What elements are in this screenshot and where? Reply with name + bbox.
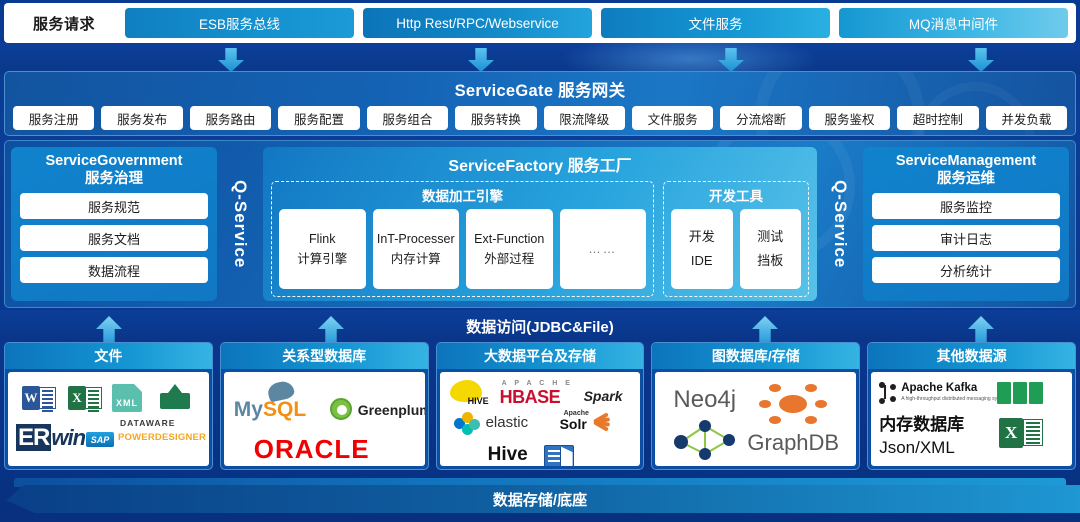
source-card-file-title: 文件 xyxy=(5,343,212,369)
powerdesigner-logo: POWERDESIGNER xyxy=(118,432,206,443)
graphdb-nodes-icon xyxy=(753,382,833,426)
gate-item-service-publish[interactable]: 服务发布 xyxy=(101,106,182,130)
dev-tools-box-row: 开发 IDE 测试 挡板 xyxy=(671,209,801,289)
engine-box-more[interactable]: …… xyxy=(560,209,647,289)
bottom-ribbon: 数据存储/底座 xyxy=(0,475,1080,522)
green-upload-icon xyxy=(160,393,190,409)
dataware-logo: DATAWARE xyxy=(120,418,175,428)
data-access-title: 数据访问(JDBC&File) xyxy=(0,316,1080,337)
source-card-graph-body: Neo4j xyxy=(655,372,856,466)
neo4j-graph-icon xyxy=(671,420,743,460)
apache-small-label: A P A C H E xyxy=(502,380,573,387)
service-request-mq-button[interactable]: MQ消息中间件 xyxy=(839,8,1068,38)
source-card-file-body: W X XML ERwin SAP POWERDESIGNER xyxy=(8,372,209,466)
data-source-cards: 文件 W X XML ERwin SAP xyxy=(4,342,1076,470)
graphdb-logo: GraphDB xyxy=(747,430,839,456)
kafka-logo: Apache Kafka xyxy=(901,382,977,394)
servicegate-title: ServiceGate 服务网关 xyxy=(5,72,1075,101)
hive-disk-icon xyxy=(544,445,574,466)
management-item-service-monitor[interactable]: 服务监控 xyxy=(872,193,1060,219)
gate-item-service-transform[interactable]: 服务转换 xyxy=(455,106,536,130)
ribbon-title: 数据存储/底座 xyxy=(493,489,587,510)
servicefactory-panel: ServiceFactory 服务工厂 数据加工引擎 Flink 计算引擎 In… xyxy=(263,147,817,301)
elastic-logo: elastic xyxy=(486,414,529,431)
kafka-icon xyxy=(879,382,899,404)
q-service-text: Q-Service xyxy=(230,180,250,268)
green-grid-icon xyxy=(997,382,1043,404)
excel-icon: X xyxy=(68,386,102,410)
tool-box-develop-line2: IDE xyxy=(691,249,713,273)
service-request-row: 服务请求 ESB服务总线 Http Rest/RPC/Webservice 文件… xyxy=(4,3,1076,43)
gate-item-rate-limit[interactable]: 限流降级 xyxy=(544,106,625,130)
q-service-text: Q-Service xyxy=(830,180,850,268)
json-xml-label: Json/XML xyxy=(879,438,955,458)
solr-burst-icon xyxy=(594,410,624,434)
gate-item-concurrency-load[interactable]: 并发负载 xyxy=(986,106,1067,130)
tool-box-develop-line1: 开发 xyxy=(689,225,715,249)
service-management-panel: ServiceManagement 服务运维 服务监控 审计日志 分析统计 xyxy=(863,147,1069,301)
erwin-logo: ERwin xyxy=(16,424,85,452)
gate-item-file-service[interactable]: 文件服务 xyxy=(632,106,713,130)
engine-box-ext-line1: Ext-Function xyxy=(474,229,544,249)
engine-box-row: Flink 计算引擎 InT-Processer 内存计算 Ext-Functi… xyxy=(279,209,646,289)
source-card-other-body: Apache Kafka A high-throughput distribut… xyxy=(871,372,1072,466)
service-request-esb-button[interactable]: ESB服务总线 xyxy=(125,8,354,38)
hive-logo: Hive xyxy=(488,444,528,466)
tool-box-test[interactable]: 测试 挡板 xyxy=(740,209,802,289)
source-card-graph-title: 图数据库/存储 xyxy=(652,343,859,369)
source-card-bigdata-body: HIVE A P A C H E HBASE Spark elastic Apa… xyxy=(440,372,641,466)
tool-box-test-line1: 测试 xyxy=(757,225,783,249)
government-item-service-spec[interactable]: 服务规范 xyxy=(20,193,208,219)
downward-flow-band xyxy=(0,43,1080,74)
hbase-logo: HBASE xyxy=(500,387,561,408)
neo4j-logo: Neo4j xyxy=(673,386,736,414)
word-icon: W xyxy=(22,386,56,410)
hive-badge-label: HIVE xyxy=(468,396,489,406)
government-item-data-flow[interactable]: 数据流程 xyxy=(20,257,208,283)
source-card-relational-title: 关系型数据库 xyxy=(221,343,428,369)
gate-item-service-auth[interactable]: 服务鉴权 xyxy=(809,106,890,130)
source-card-file[interactable]: 文件 W X XML ERwin SAP xyxy=(4,342,213,470)
architecture-diagram: 服务请求 ESB服务总线 Http Rest/RPC/Webservice 文件… xyxy=(0,0,1080,522)
gate-item-service-register[interactable]: 服务注册 xyxy=(13,106,94,130)
gate-item-service-route[interactable]: 服务路由 xyxy=(190,106,271,130)
management-item-audit-log[interactable]: 审计日志 xyxy=(872,225,1060,251)
service-government-title-en: ServiceGovernment xyxy=(20,153,208,170)
mysql-logo: MySQL xyxy=(234,398,306,422)
gate-item-circuit-breaker[interactable]: 分流熔断 xyxy=(720,106,801,130)
greenplum-logo: Greenplum xyxy=(358,402,425,418)
service-management-title-cn: 服务运维 xyxy=(872,170,1060,188)
source-card-other[interactable]: 其他数据源 Apache Kafka A high-throughput dis… xyxy=(867,342,1076,470)
service-government-title-cn: 服务治理 xyxy=(20,170,208,188)
gate-item-timeout-control[interactable]: 超时控制 xyxy=(897,106,978,130)
engine-box-flink[interactable]: Flink 计算引擎 xyxy=(279,209,366,289)
engine-box-flink-line2: 计算引擎 xyxy=(297,249,347,269)
service-request-label: 服务请求 xyxy=(12,13,116,34)
servicefactory-title: ServiceFactory 服务工厂 xyxy=(271,152,809,176)
dev-tools-title: 开发工具 xyxy=(671,185,801,205)
engine-box-flink-line1: Flink xyxy=(309,229,335,249)
service-request-http-button[interactable]: Http Rest/RPC/Webservice xyxy=(363,8,592,38)
engine-box-ext-function[interactable]: Ext-Function 外部过程 xyxy=(466,209,553,289)
government-item-service-doc[interactable]: 服务文档 xyxy=(20,225,208,251)
source-card-relational-body: MySQL Greenplum ORACLE xyxy=(224,372,425,466)
arrow-down-icon xyxy=(468,48,494,72)
data-access-bar: 数据访问(JDBC&File) xyxy=(0,310,1080,342)
xml-file-icon: XML xyxy=(112,384,142,412)
servicefactory-body: 数据加工引擎 Flink 计算引擎 InT-Processer 内存计算 Ext… xyxy=(271,181,809,297)
greenplum-icon xyxy=(330,398,352,420)
excel-grid xyxy=(85,387,102,409)
source-card-relational-db[interactable]: 关系型数据库 MySQL Greenplum ORACLE xyxy=(220,342,429,470)
middle-section: ServiceGovernment 服务治理 服务规范 服务文档 数据流程 Q-… xyxy=(4,140,1076,308)
excel-icon: X xyxy=(999,418,1043,448)
band-glow xyxy=(560,43,820,74)
source-card-bigdata-title: 大数据平台及存储 xyxy=(437,343,644,369)
arrow-down-icon xyxy=(218,48,244,72)
word-page xyxy=(39,387,56,409)
service-government-panel: ServiceGovernment 服务治理 服务规范 服务文档 数据流程 xyxy=(11,147,217,301)
q-service-label-left: Q-Service xyxy=(217,147,263,301)
spark-logo: Spark xyxy=(584,388,623,404)
engine-box-int-line2: 内存计算 xyxy=(391,249,441,269)
source-card-other-title: 其他数据源 xyxy=(868,343,1075,369)
memory-db-label: 内存数据库 xyxy=(879,410,964,435)
excel-grid xyxy=(1023,419,1043,446)
ribbon-main: 数据存储/底座 xyxy=(0,485,1080,513)
service-request-file-button[interactable]: 文件服务 xyxy=(601,8,830,38)
tool-box-test-line2: 挡板 xyxy=(757,249,783,273)
data-processing-engine-title: 数据加工引擎 xyxy=(279,185,646,205)
engine-box-ext-line2: 外部过程 xyxy=(484,249,534,269)
q-service-label-right: Q-Service xyxy=(817,147,863,301)
oracle-logo: ORACLE xyxy=(254,434,370,465)
elastic-logo-icon xyxy=(454,412,480,436)
servicegate-panel: ServiceGate 服务网关 服务注册 服务发布 服务路由 服务配置 服务组… xyxy=(4,71,1076,136)
solr-logo: Solr xyxy=(560,416,587,432)
data-processing-engine-group: 数据加工引擎 Flink 计算引擎 InT-Processer 内存计算 Ext… xyxy=(271,181,654,297)
engine-box-int-line1: InT-Processer xyxy=(377,229,455,249)
management-item-analytics[interactable]: 分析统计 xyxy=(872,257,1060,283)
source-card-bigdata[interactable]: 大数据平台及存储 HIVE A P A C H E HBASE Spark el… xyxy=(436,342,645,470)
gate-item-service-config[interactable]: 服务配置 xyxy=(278,106,359,130)
gate-item-service-compose[interactable]: 服务组合 xyxy=(367,106,448,130)
kafka-tagline: A high-throughput distributed messaging … xyxy=(901,396,1009,402)
source-card-graph-db[interactable]: 图数据库/存储 Neo4j xyxy=(651,342,860,470)
engine-box-int-processer[interactable]: InT-Processer 内存计算 xyxy=(373,209,460,289)
arrow-down-icon xyxy=(968,48,994,72)
dev-tools-group: 开发工具 开发 IDE 测试 挡板 xyxy=(663,181,809,297)
sap-logo: SAP xyxy=(86,432,114,447)
service-management-title-en: ServiceManagement xyxy=(872,153,1060,170)
engine-box-more-label: …… xyxy=(588,239,617,259)
servicegate-item-list: 服务注册 服务发布 服务路由 服务配置 服务组合 服务转换 限流降级 文件服务 … xyxy=(5,101,1075,130)
tool-box-develop[interactable]: 开发 IDE xyxy=(671,209,733,289)
